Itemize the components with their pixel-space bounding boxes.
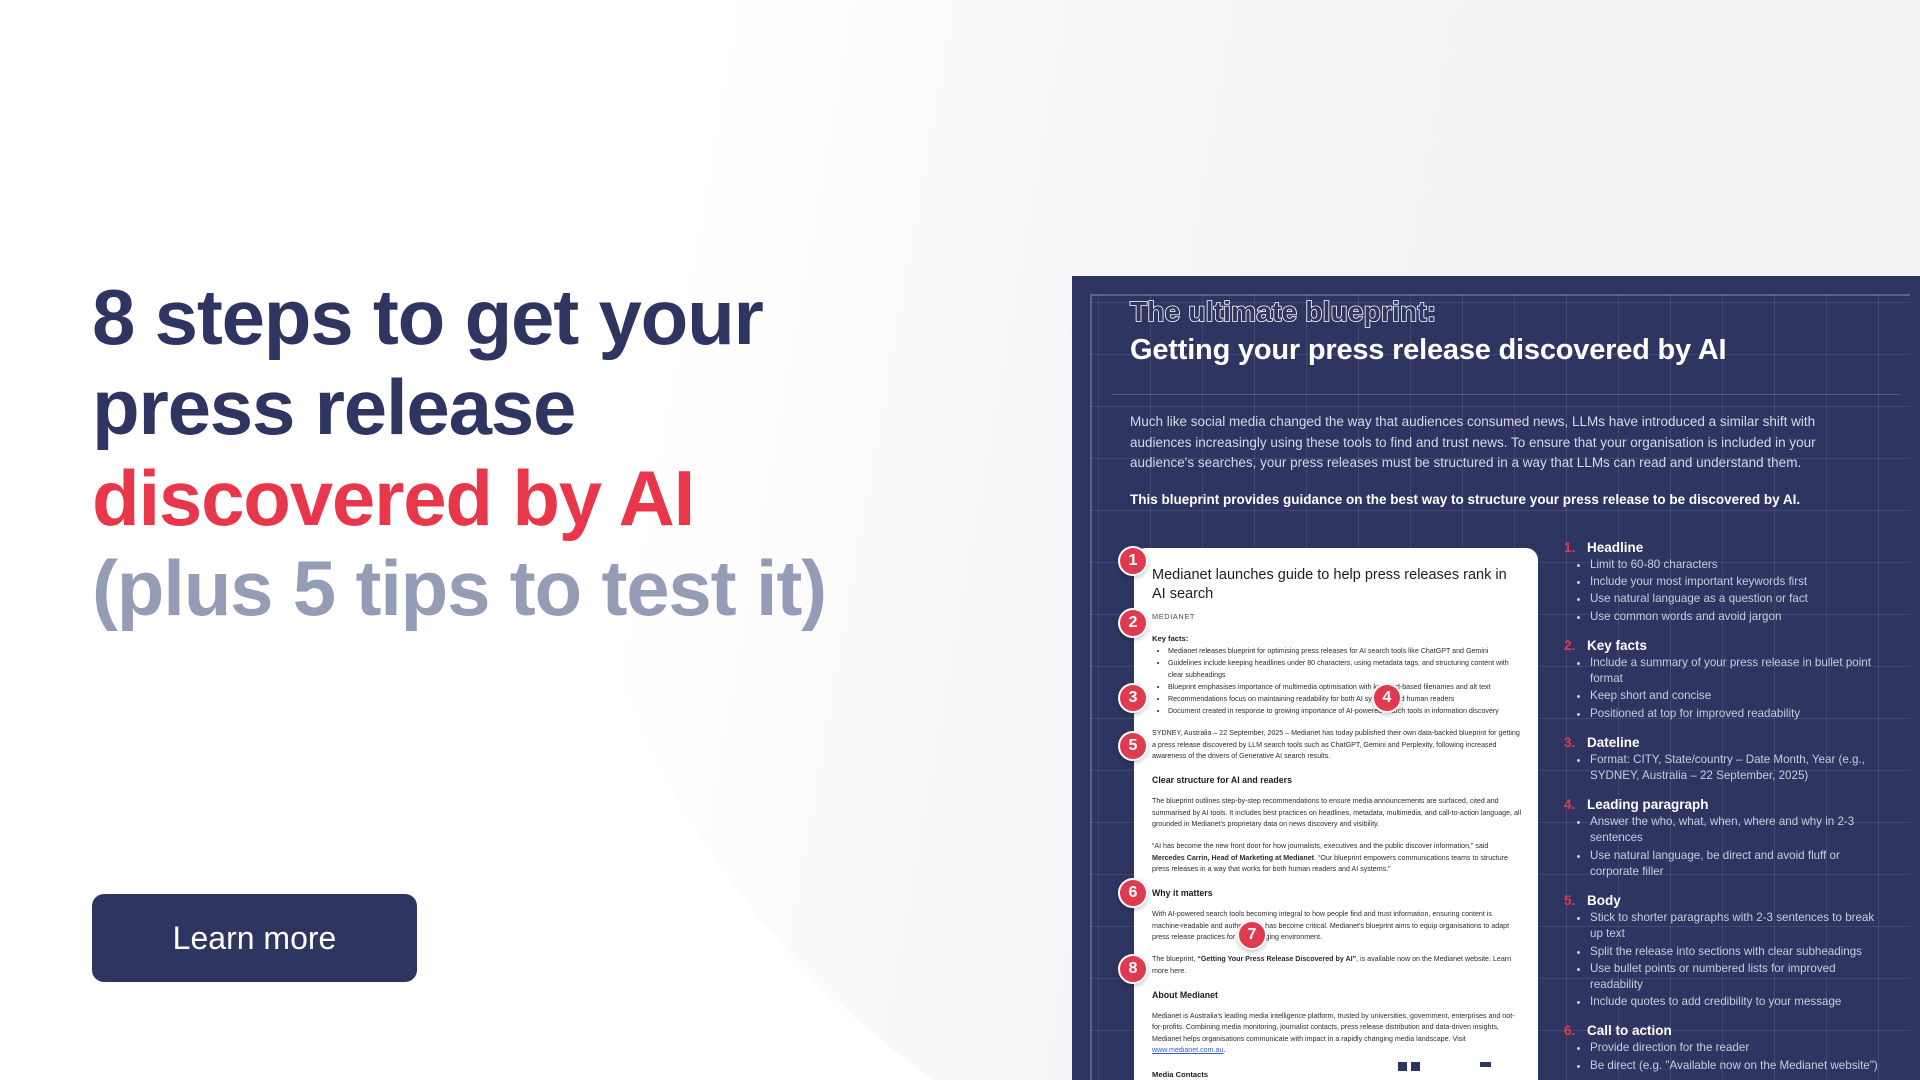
pr-source: MEDIANET	[1152, 612, 1522, 621]
blueprint-tips-list: 1. Headline Limit to 60-80 characters In…	[1564, 540, 1884, 1080]
document-divider	[1112, 394, 1900, 395]
tip-point: Use bullet points or numbered lists for …	[1590, 961, 1884, 993]
pr-section-2-title: Why it matters	[1152, 888, 1522, 898]
pr-about-paragraph: Medianet is Australia's leading media in…	[1152, 1011, 1522, 1056]
pr-quote-attribution: Mercedes Carrin, Head of Marketing at Me…	[1152, 854, 1314, 862]
pr-key-fact: Document created in response to growing …	[1168, 706, 1522, 717]
document-intro-text: Much like social media changed the way t…	[1130, 414, 1816, 470]
page-title: 8 steps to get your press release discov…	[92, 272, 1072, 634]
tip-number: 3.	[1564, 735, 1579, 750]
hero-line-1: 8 steps to get your	[92, 272, 1072, 362]
hero-line-3: discovered by AI	[92, 453, 1072, 543]
pr-about-title: About Medianet	[1152, 990, 1522, 1000]
tip-points: Answer the who, what, when, where and wh…	[1590, 814, 1884, 880]
medianet-logo-mark	[1398, 1062, 1491, 1071]
blueprint-document-preview[interactable]: The ultimate blueprint: Getting your pre…	[1072, 276, 1920, 1080]
pr-key-fact: Recommendations focus on maintaining rea…	[1168, 694, 1522, 705]
pr-section-1-paragraph: The blueprint outlines step-by-step reco…	[1152, 796, 1522, 830]
pr-about-text-b: .	[1223, 1046, 1225, 1054]
tip-item: 1. Headline Limit to 60-80 characters In…	[1564, 540, 1884, 625]
tip-points: Stick to shorter paragraphs with 2-3 sen…	[1590, 910, 1884, 1010]
tip-number: 6.	[1564, 1023, 1579, 1038]
document-intro-bold: This blueprint provides guidance on the …	[1130, 490, 1880, 511]
step-badge-5[interactable]: 5	[1118, 731, 1148, 761]
hero-line-2: press release	[92, 362, 1072, 452]
tip-points: Provide direction for the reader Be dire…	[1590, 1040, 1884, 1073]
tip-number: 2.	[1564, 638, 1579, 653]
step-badge-3[interactable]: 3	[1118, 683, 1148, 713]
logo-square	[1411, 1062, 1420, 1071]
tip-item: 4. Leading paragraph Answer the who, wha…	[1564, 797, 1884, 880]
tip-point: Split the release into sections with cle…	[1590, 944, 1884, 960]
tip-number: 1.	[1564, 540, 1579, 555]
document-intro: Much like social media changed the way t…	[1130, 412, 1880, 510]
tip-point: Positioned at top for improved readabili…	[1590, 706, 1884, 722]
tip-heading: 3. Dateline	[1564, 735, 1884, 750]
tip-number: 4.	[1564, 797, 1579, 812]
pr-section-2-paragraph: With AI-powered search tools becoming in…	[1152, 909, 1522, 943]
document-title: Getting your press release discovered by…	[1130, 334, 1886, 367]
pr-dateline-paragraph: SYDNEY, Australia – 22 September, 2025 –…	[1152, 728, 1522, 762]
tip-item: 2. Key facts Include a summary of your p…	[1564, 638, 1884, 722]
tip-number: 5.	[1564, 893, 1579, 908]
tip-point: Stick to shorter paragraphs with 2-3 sen…	[1590, 910, 1884, 942]
page-root: 8 steps to get your press release discov…	[0, 0, 1920, 1080]
pr-key-fact: Guidelines include keeping headlines und…	[1168, 658, 1522, 680]
document-columns: Medianet launches guide to help press re…	[1072, 548, 1920, 1080]
pr-key-facts-label: Key facts:	[1152, 634, 1522, 643]
pr-section-1-title: Clear structure for AI and readers	[1152, 775, 1522, 785]
tip-heading: 6. Call to action	[1564, 1023, 1884, 1038]
tip-heading: 5. Body	[1564, 893, 1884, 908]
step-badge-8[interactable]: 8	[1118, 954, 1148, 984]
learn-more-button[interactable]: Learn more	[92, 894, 417, 982]
hero-block: 8 steps to get your press release discov…	[92, 272, 1072, 634]
tip-point: Limit to 60-80 characters	[1590, 557, 1884, 573]
tip-points: Limit to 60-80 characters Include your m…	[1590, 557, 1884, 625]
pr-medianet-link[interactable]: www.medianet.com.au	[1152, 1046, 1223, 1054]
tip-point: Use natural language, be direct and avoi…	[1590, 848, 1884, 880]
tip-item: 6. Call to action Provide direction for …	[1564, 1023, 1884, 1073]
pr-key-fact: Blueprint emphasises importance of multi…	[1168, 682, 1522, 693]
pr-quote-paragraph: “AI has become the new front door for ho…	[1152, 841, 1522, 875]
step-badge-7[interactable]: 7	[1237, 920, 1267, 950]
tip-item: 3. Dateline Format: CITY, State/country …	[1564, 735, 1884, 784]
logo-square	[1398, 1062, 1407, 1071]
tip-point: Format: CITY, State/country – Date Month…	[1590, 752, 1884, 784]
document-kicker: The ultimate blueprint:	[1130, 296, 1886, 328]
tip-heading: 4. Leading paragraph	[1564, 797, 1884, 812]
pr-about-text-a: Medianet is Australia's leading media in…	[1152, 1012, 1515, 1043]
tip-heading: 1. Headline	[1564, 540, 1884, 555]
step-badge-2[interactable]: 2	[1118, 608, 1148, 638]
tip-item: 5. Body Stick to shorter paragraphs with…	[1564, 893, 1884, 1010]
pr-key-fact: Medianet releases blueprint for optimisi…	[1168, 646, 1522, 657]
step-badge-6[interactable]: 6	[1118, 878, 1148, 908]
tip-heading: 2. Key facts	[1564, 638, 1884, 653]
tip-point: Use natural language as a question or fa…	[1590, 591, 1884, 607]
logo-bar	[1480, 1062, 1491, 1067]
tip-point: Include quotes to add credibility to you…	[1590, 994, 1884, 1010]
tip-title: Leading paragraph	[1587, 797, 1709, 812]
pr-cta-lead: The blueprint,	[1152, 955, 1197, 963]
tip-title: Body	[1587, 893, 1621, 908]
tip-points: Format: CITY, State/country – Date Month…	[1590, 752, 1884, 784]
document-header: The ultimate blueprint: Getting your pre…	[1130, 296, 1886, 367]
tip-point: Include your most important keywords fir…	[1590, 574, 1884, 590]
tip-title: Key facts	[1587, 638, 1647, 653]
tip-point: Be direct (e.g. "Available now on the Me…	[1590, 1058, 1884, 1074]
tip-title: Headline	[1587, 540, 1643, 555]
step-badge-1[interactable]: 1	[1118, 546, 1148, 576]
tip-point: Keep short and concise	[1590, 688, 1884, 704]
pr-headline: Medianet launches guide to help press re…	[1152, 566, 1522, 603]
tip-points: Include a summary of your press release …	[1590, 655, 1884, 722]
tip-point: Use common words and avoid jargon	[1590, 609, 1884, 625]
hero-line-4: (plus 5 tips to test it)	[92, 543, 1072, 633]
pr-cta-paragraph: The blueprint, “Getting Your Press Relea…	[1152, 954, 1522, 977]
pr-key-facts-list: Medianet releases blueprint for optimisi…	[1168, 646, 1522, 717]
tip-point: Include a summary of your press release …	[1590, 655, 1884, 687]
press-release-sample-card: Medianet launches guide to help press re…	[1134, 548, 1538, 1080]
pr-quote-lead: “AI has become the new front door for ho…	[1152, 842, 1488, 850]
tip-point: Answer the who, what, when, where and wh…	[1590, 814, 1884, 846]
tip-title: Dateline	[1587, 735, 1640, 750]
step-badge-4[interactable]: 4	[1372, 683, 1402, 713]
pr-cta-bold: “Getting Your Press Release Discovered b…	[1197, 955, 1356, 963]
tip-point: Provide direction for the reader	[1590, 1040, 1884, 1056]
tip-title: Call to action	[1587, 1023, 1672, 1038]
